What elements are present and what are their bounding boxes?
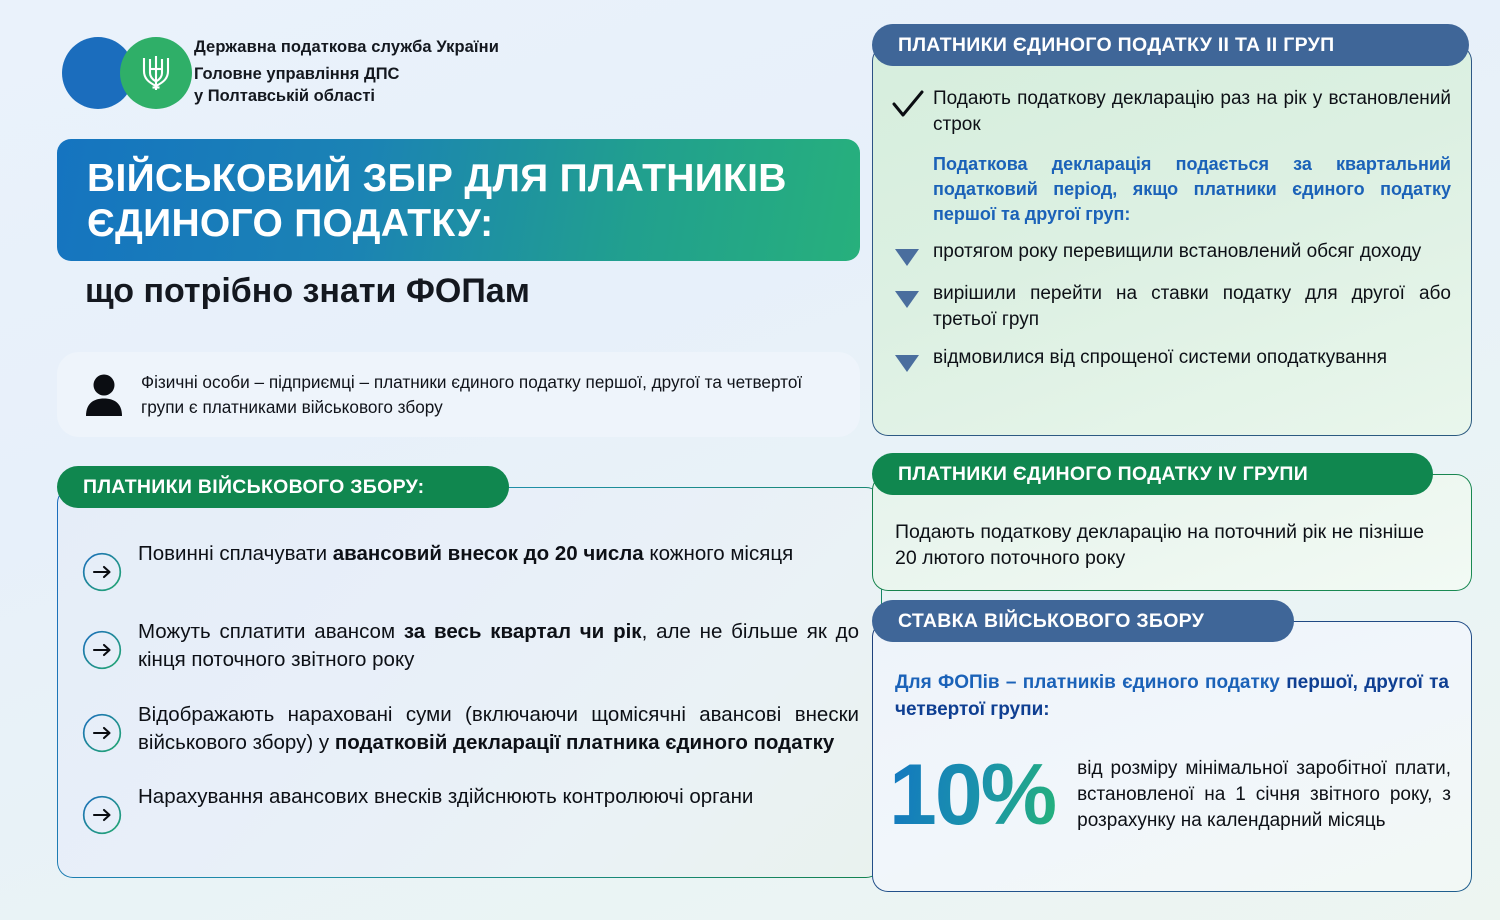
group12-card: Подають податкову декларацію раз на рік …: [872, 24, 1472, 436]
list-item: Подають податкову декларацію раз на рік …: [891, 86, 1451, 138]
rate-lead-text: Для ФОПів – платників єдиного податку пе…: [895, 670, 1449, 723]
triangle-down-icon: [891, 351, 923, 375]
person-icon: [83, 373, 125, 417]
triangle-down-icon: [891, 245, 923, 269]
list-item: вирішили перейти на ставки податку для д…: [891, 281, 1451, 333]
arrow-right-icon: [82, 795, 122, 835]
payers-card-body: Повинні сплачувати авансовий внесок до 2…: [57, 487, 882, 878]
rate-card-header: СТАВКА ВІЙСЬКОВОГО ЗБОРУ: [872, 600, 1294, 642]
list-item: Повинні сплачувати авансовий внесок до 2…: [82, 540, 859, 592]
page-subtitle: що потрібно знати ФОПам: [85, 272, 885, 311]
payers-card-header: ПЛАТНИКИ ВІЙСЬКОВОГО ЗБОРУ:: [57, 466, 509, 508]
logo-marks: [62, 34, 180, 112]
group12-card-body: Подають податкову декларацію раз на рік …: [872, 45, 1472, 436]
group4-card: Подають податкову декларацію на поточний…: [872, 453, 1472, 591]
list-item-text: вирішили перейти на ставки податку для д…: [933, 281, 1451, 333]
logo-text: Державна податкова служба України Головн…: [194, 38, 499, 108]
list-item: протягом року перевищили встановлений об…: [891, 239, 1451, 269]
person-note-text: Фізичні особи – підприємці – платники єд…: [141, 370, 834, 420]
rate-description: від розміру мінімальної заробітної плати…: [1077, 750, 1451, 835]
group4-text: Подають податкову декларацію на поточний…: [895, 519, 1449, 572]
rate-value: 10%: [889, 750, 1055, 837]
payers-list: Повинні сплачувати авансовий внесок до 2…: [82, 540, 859, 835]
arrow-right-icon: [82, 630, 122, 670]
list-item-text: Можуть сплатити авансом за весь квартал …: [138, 618, 859, 675]
rate-card-body: Для ФОПів – платників єдиного податку пе…: [872, 621, 1472, 892]
page-title: ВІЙСЬКОВИЙ ЗБІР ДЛЯ ПЛАТНИКІВ ЄДИНОГО ПО…: [87, 156, 830, 246]
list-item: Відображають нараховані суми (включаючи …: [82, 701, 859, 758]
page-title-line1: ВІЙСЬКОВИЙ ЗБІР ДЛЯ ПЛАТНИКІВ: [87, 157, 787, 200]
arrow-right-icon: [82, 552, 122, 592]
list-item-text: Повинні сплачувати авансовий внесок до 2…: [138, 540, 859, 568]
rate-card: Для ФОПів – платників єдиного податку пе…: [872, 600, 1472, 892]
org-name: Державна податкова служба України: [194, 38, 499, 57]
green-circle-icon: [120, 37, 192, 109]
list-item: відмовилися від спрощеної системи оподат…: [891, 345, 1451, 375]
list-item-text: протягом року перевищили встановлений об…: [933, 239, 1451, 265]
org-department: Головне управління ДПС у Полтавській обл…: [194, 64, 499, 108]
group12-card-header: ПЛАТНИКИ ЄДИНОГО ПОДАТКУ II ТА II ГРУП: [872, 24, 1469, 66]
arrow-right-icon: [82, 713, 122, 753]
list-item-text: Нарахування авансових внесків здійснюють…: [138, 783, 859, 811]
triangle-down-icon: [891, 287, 923, 311]
list-item-text: Відображають нараховані суми (включаючи …: [138, 701, 859, 758]
tryzub-icon: [139, 51, 173, 95]
group12-note: Податкова декларація подається за кварта…: [933, 152, 1451, 228]
rate-row: 10% від розміру мінімальної заробітної п…: [889, 750, 1451, 837]
person-note: Фізичні особи – підприємці – платники єд…: [57, 352, 860, 437]
list-item-text: відмовилися від спрощеної системи оподат…: [933, 345, 1451, 371]
check-icon: [891, 90, 925, 120]
hero-title-banner: ВІЙСЬКОВИЙ ЗБІР ДЛЯ ПЛАТНИКІВ ЄДИНОГО ПО…: [57, 139, 860, 261]
page-title-line2: ЄДИНОГО ПОДАТКУ:: [87, 202, 493, 245]
org-department-line2: у Полтавській області: [194, 87, 375, 105]
infographic-page: Державна податкова служба України Головн…: [0, 0, 1500, 920]
organization-logo: Державна податкова служба України Головн…: [62, 34, 499, 112]
list-item: Можуть сплатити авансом за весь квартал …: [82, 618, 859, 675]
group4-card-header: ПЛАТНИКИ ЄДИНОГО ПОДАТКУ IV ГРУПИ: [872, 453, 1433, 495]
group12-content: Подають податкову декларацію раз на рік …: [891, 86, 1451, 387]
list-item: Нарахування авансових внесків здійснюють…: [82, 783, 859, 835]
org-department-line1: Головне управління ДПС: [194, 65, 399, 83]
payers-card: Повинні сплачувати авансовий внесок до 2…: [57, 466, 882, 878]
list-item-text: Подають податкову декларацію раз на рік …: [933, 86, 1451, 138]
